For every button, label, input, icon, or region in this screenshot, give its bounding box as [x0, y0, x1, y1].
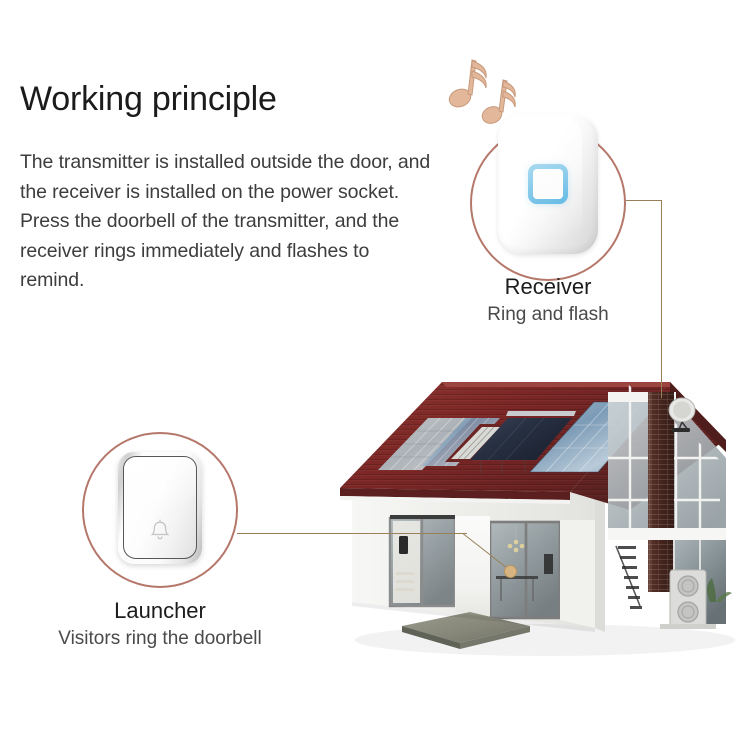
receiver-connector-vertical — [661, 200, 662, 398]
launcher-connector-horizontal — [237, 533, 467, 534]
launcher-sublabel: Visitors ring the doorbell — [34, 628, 286, 650]
launcher-connector-endpoint-dot — [504, 565, 517, 578]
working-principle-infographic: Working principle The transmitter is ins… — [0, 0, 750, 750]
bell-icon — [147, 518, 173, 544]
receiver-connector-horizontal — [626, 200, 662, 201]
receiver-sublabel: Ring and flash — [460, 304, 636, 326]
receiver-device[interactable] — [498, 114, 598, 254]
house-illustration — [330, 340, 750, 680]
launcher-label: Launcher — [82, 598, 238, 624]
launcher-device[interactable] — [118, 452, 202, 564]
receiver-label: Receiver — [470, 274, 626, 300]
rounded-square-button-icon[interactable] — [528, 164, 568, 204]
page-title: Working principle — [20, 82, 277, 118]
launcher-face — [123, 456, 197, 559]
description-paragraph: The transmitter is installed outside the… — [20, 148, 432, 296]
